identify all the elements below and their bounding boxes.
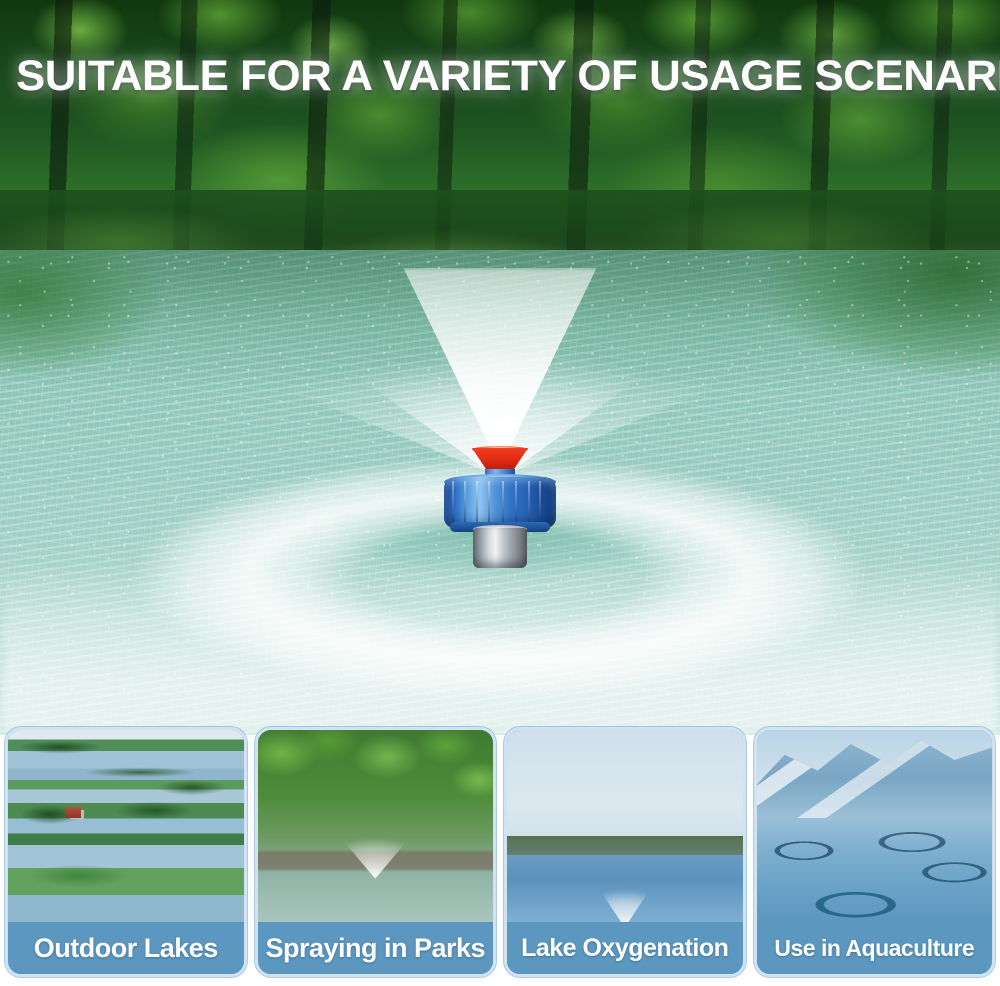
park-fountain-photo [258,730,494,922]
floating-fountain-pump [440,448,560,566]
fish-farm-photo [757,730,993,922]
red-cone-nozzle [472,448,528,470]
scenario-card-spraying-in-parks[interactable]: Spraying in Parks [255,727,497,977]
scenario-card-label: Use in Aquaculture [757,922,993,974]
lake-aerator-photo [507,730,743,922]
scenario-card-use-in-aquaculture[interactable]: Use in Aquaculture [754,727,996,977]
page-title: SUITABLE FOR A VARIETY OF USAGE SCENARIO… [16,50,1000,102]
hero-banner: SUITABLE FOR A VARIETY OF USAGE SCENARIO… [0,0,1000,735]
scenario-card-outdoor-lakes[interactable]: Outdoor Lakes [5,727,247,977]
scenario-card-lake-oxygenation[interactable]: Lake Oxygenation [504,727,746,977]
scenario-card-label: Lake Oxygenation [507,922,743,974]
float-ribs [440,479,552,527]
scenario-card-label: Outdoor Lakes [8,922,244,974]
usage-scenario-cards: Outdoor Lakes Spraying in Parks Lake Oxy… [0,727,1000,986]
stainless-steel-shaft [473,528,527,568]
outdoor-lakes-photo [8,730,244,922]
scenario-card-label: Spraying in Parks [258,922,494,974]
